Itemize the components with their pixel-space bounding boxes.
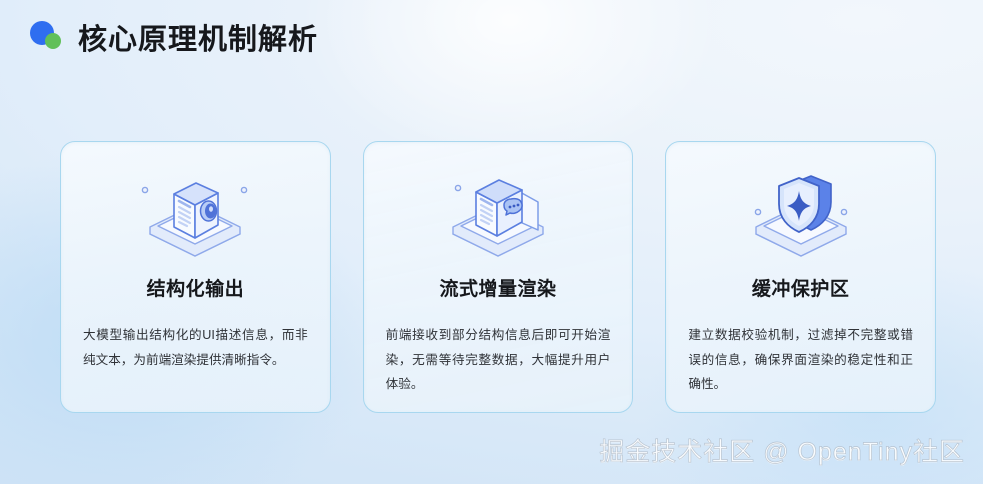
feature-card[interactable]: 流式增量渲染 前端接收到部分结构信息后即可开始渲染，无需等待完整数据，大幅提升用…: [363, 141, 634, 413]
feature-card-body: 前端接收到部分结构信息后即可开始渲染，无需等待完整数据，大幅提升用户体验。: [386, 323, 611, 397]
feature-card-title: 流式增量渲染: [440, 274, 557, 301]
isometric-shield-sparkle-icon: [737, 164, 865, 260]
feature-card-body: 建立数据校验机制，过滤掉不完整或错误的信息，确保界面渲染的稳定性和正确性。: [688, 323, 913, 397]
page-header: 核心原理机制解析: [30, 14, 318, 60]
brand-dot-green: [45, 33, 61, 49]
isometric-server-stream-chat-icon: [434, 164, 562, 260]
feature-card-list: 结构化输出 大模型输出结构化的UI描述信息，而非纯文本，为前端渲染提供清晰指令。: [60, 141, 936, 413]
watermark: 掘金技术社区 @ OpenTiny社区: [599, 432, 965, 468]
feature-card[interactable]: 结构化输出 大模型输出结构化的UI描述信息，而非纯文本，为前端渲染提供清晰指令。: [60, 141, 331, 413]
feature-card-title: 缓冲保护区: [752, 274, 850, 301]
brand-dots-icon: [30, 20, 64, 54]
feature-card[interactable]: 缓冲保护区 建立数据校验机制，过滤掉不完整或错误的信息，确保界面渲染的稳定性和正…: [665, 141, 936, 413]
slide-root: 核心原理机制解析: [0, 0, 983, 484]
feature-card-body: 大模型输出结构化的UI描述信息，而非纯文本，为前端渲染提供清晰指令。: [83, 323, 308, 372]
feature-card-title: 结构化输出: [147, 274, 245, 301]
page-title: 核心原理机制解析: [78, 16, 318, 58]
isometric-server-output-icon: [131, 164, 259, 260]
